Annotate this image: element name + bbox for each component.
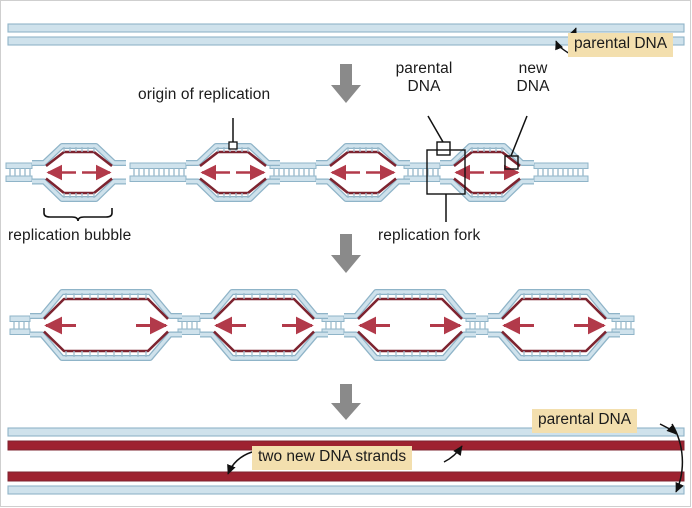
replication-bubble-brace — [44, 208, 112, 221]
parental-strand-b — [8, 486, 684, 494]
stage3-enlarged-bubbles — [10, 292, 634, 358]
new-dna-callout-line1: new — [500, 60, 566, 78]
step-arrow-2 — [331, 234, 361, 273]
diagram-canvas: parental DNA origin of replication paren… — [0, 0, 692, 508]
parental-dna-marker — [428, 116, 450, 155]
step-arrow-3 — [331, 384, 361, 420]
parental-dna-callout-line2: DNA — [386, 78, 462, 96]
replication-fork-label: replication fork — [378, 227, 480, 245]
replication-bubble — [32, 146, 126, 199]
replication-bubble-label: replication bubble — [8, 227, 131, 245]
parental-dna-top-label: parental DNA — [568, 33, 673, 57]
new-strand-b — [8, 472, 684, 481]
replication-bubble — [440, 146, 534, 199]
parental-dna-bottom-label: parental DNA — [532, 409, 637, 433]
replication-bubble — [200, 292, 328, 358]
origin-of-replication-label: origin of replication — [138, 86, 270, 104]
two-new-dna-strands-label: two new DNA strands — [252, 446, 412, 470]
step-arrow-1 — [331, 64, 361, 103]
stage2-replication-bubbles — [6, 116, 588, 222]
replication-bubble — [316, 146, 410, 199]
replication-bubble — [344, 292, 476, 358]
new-dna-callout-line2: DNA — [500, 78, 566, 96]
replication-bubble — [488, 292, 620, 358]
replication-bubble — [30, 292, 182, 358]
replication-bubble — [186, 118, 280, 199]
parental-dna-callout-line1: parental — [386, 60, 462, 78]
